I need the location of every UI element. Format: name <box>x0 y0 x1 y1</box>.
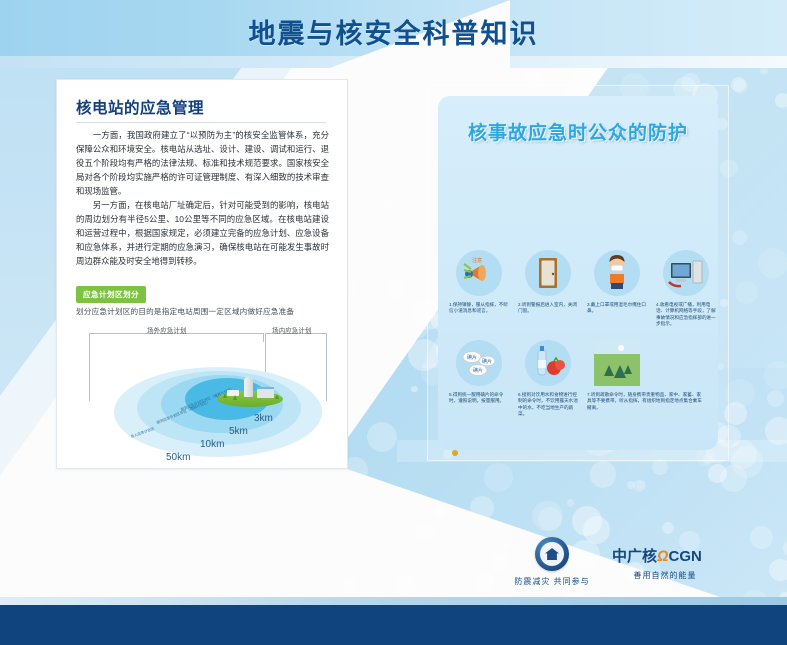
poster-root: 地震与核安全科普知识 核电站的应急管理 一方面，我国政府建立了“以预防为主”的核… <box>0 0 787 645</box>
bubble-dot <box>368 334 391 357</box>
protection-caption-6: 6.接到对饮用水和食物进行控制的命令时，不饮用露天水池中的水，不吃当地生产的蔬菜… <box>518 392 580 418</box>
cgn-logo-en: CGN <box>669 548 702 565</box>
bubble-dot <box>764 361 787 390</box>
radius-label-10km: 10km <box>200 439 224 450</box>
earthquake-bureau-seal-logo <box>535 537 569 571</box>
bubble-dot <box>735 281 758 304</box>
bubble-dot <box>491 553 509 571</box>
bubble-dot <box>652 459 668 475</box>
cgn-caption: 善用自然的能量 <box>600 570 730 581</box>
protection-caption-1: 1.保持镇静，服从指挥，不听信小道消息和谣言。 <box>449 302 511 315</box>
bubble-dot <box>411 386 417 392</box>
bubble-dot <box>389 514 404 529</box>
right-info-panel: 核事故应急时公众的防护 注意 <box>427 85 729 461</box>
cgn-logo-cn: 中广核 <box>612 548 657 565</box>
megaphone-warning-icon: 注意 <box>456 250 502 296</box>
bracket-onsite-label: 场内应急计划 <box>272 325 312 335</box>
cgn-logo-mark-icon: Ω <box>656 548 670 565</box>
bubble-dot <box>346 374 366 394</box>
bubble-dot <box>503 543 510 550</box>
bubble-dot <box>627 481 635 489</box>
bubble-dot <box>775 93 787 108</box>
bubble-dot <box>415 526 427 538</box>
bubble-dot <box>758 248 787 278</box>
bubble-dot <box>769 559 787 582</box>
left-card-title: 核电站的应急管理 <box>76 96 204 118</box>
right-panel-inner: 核事故应急时公众的防护 注意 <box>438 96 718 450</box>
face-mask-child-icon <box>594 250 640 296</box>
bubble-dot <box>470 496 494 520</box>
svg-text:碘片: 碘片 <box>467 354 477 361</box>
bubble-dot <box>636 480 647 491</box>
bubble-dot <box>590 461 616 487</box>
power-plant-island <box>217 377 283 407</box>
section-badge-subtitle: 划分应急计划区的目的是指定电站周围一定区域内做好应急准备 <box>76 306 294 317</box>
bubble-dot <box>732 230 747 245</box>
bubble-dot <box>765 417 787 445</box>
bubble-dot <box>583 516 610 543</box>
bubble-dot <box>339 533 347 541</box>
protection-caption-3: 3.戴上口罩或用湿毛巾掩住口鼻。 <box>587 302 649 315</box>
bubble-dot <box>767 390 784 407</box>
tv-computer-icon <box>663 250 709 296</box>
bubble-dot <box>367 422 397 452</box>
bubble-dot <box>750 526 773 549</box>
diagram-guide-left <box>89 341 90 401</box>
bubble-dot <box>567 499 574 506</box>
title-divider <box>76 122 326 123</box>
water-food-icon <box>525 340 571 386</box>
bubble-dot <box>538 507 562 531</box>
bubble-dot <box>731 77 746 92</box>
bubble-dot <box>783 540 787 557</box>
evacuation-tents-icon <box>594 340 640 386</box>
bubble-dot <box>384 200 393 209</box>
bubble-dot <box>708 464 727 483</box>
protection-caption-7: 7.听到疏散命令时，随身携带贵重物品、家中、家蓄、家具等不要携带，听从指挥，有组… <box>587 392 705 411</box>
right-panel-title: 核事故应急时公众的防护 <box>438 118 718 145</box>
tree-icon <box>275 394 279 399</box>
bottom-bar <box>0 605 787 645</box>
bubble-dot <box>396 299 420 323</box>
radius-label-5km: 5km <box>229 426 248 437</box>
tree-icon <box>223 393 227 398</box>
paragraph-1: 一方面，我国政府建立了“以预防为主”的核安全监管体系，充分保障公众和环境安全。核… <box>76 128 329 198</box>
bubble-dot <box>414 499 439 524</box>
bubble-dot <box>342 577 358 593</box>
svg-text:注意: 注意 <box>472 257 482 264</box>
orange-accent-dot <box>452 450 458 456</box>
bubble-dot <box>570 540 600 570</box>
bracket-offsite-label: 场外应急计划 <box>147 325 187 335</box>
protection-caption-5: 5.得到统一服用碘片的命令时，遵照说明，按量服用。 <box>449 392 511 405</box>
protection-caption-4: 4.收看电视或广播，利用电话、计算机网络等手段，了解事故情况和应急指挥部的进一步… <box>656 302 718 328</box>
door-close-icon <box>525 250 571 296</box>
bubble-dot <box>395 575 417 597</box>
paragraph-2: 另一方面，在核电站厂址确定后，针对可能受到的影响，核电站的周边划分有半径5公里、… <box>76 198 329 268</box>
cooling-tower-icon <box>244 377 253 397</box>
bubble-dot <box>662 522 674 534</box>
left-content-card: 核电站的应急管理 一方面，我国政府建立了“以预防为主”的核安全监管体系，充分保障… <box>56 79 348 469</box>
bubble-dot <box>391 545 413 567</box>
cgn-logo: 中广核ΩCGN <box>612 545 702 566</box>
bottom-bar-highlight <box>0 597 787 605</box>
emergency-zone-diagram: 场外应急计划 场内应急计划 辐射性影响区 烟羽应急计划区内区（撤离计划区） 烟羽… <box>69 325 335 461</box>
bubble-dot <box>484 463 513 492</box>
radius-label-3km: 3km <box>254 413 273 424</box>
svg-text:碘片: 碘片 <box>473 367 483 374</box>
page-title: 地震与核安全科普知识 <box>0 12 787 51</box>
bubble-dot <box>385 541 394 550</box>
iodine-tablets-icon: 碘片 碘片 碘片 <box>456 340 502 386</box>
bubble-dot <box>338 494 347 503</box>
tree-icon <box>233 395 237 400</box>
protection-caption-2: 2.听到警报后进入室内，关闭门窗。 <box>518 302 580 315</box>
bubble-dot <box>388 280 406 298</box>
bubble-dot <box>760 67 768 75</box>
radius-label-50km: 50km <box>166 452 190 463</box>
diagram-guide-right <box>326 341 327 401</box>
svg-text:碘片: 碘片 <box>482 358 492 365</box>
reactor-building-icon <box>257 387 274 398</box>
section-badge: 应急计划区划分 <box>76 286 146 303</box>
